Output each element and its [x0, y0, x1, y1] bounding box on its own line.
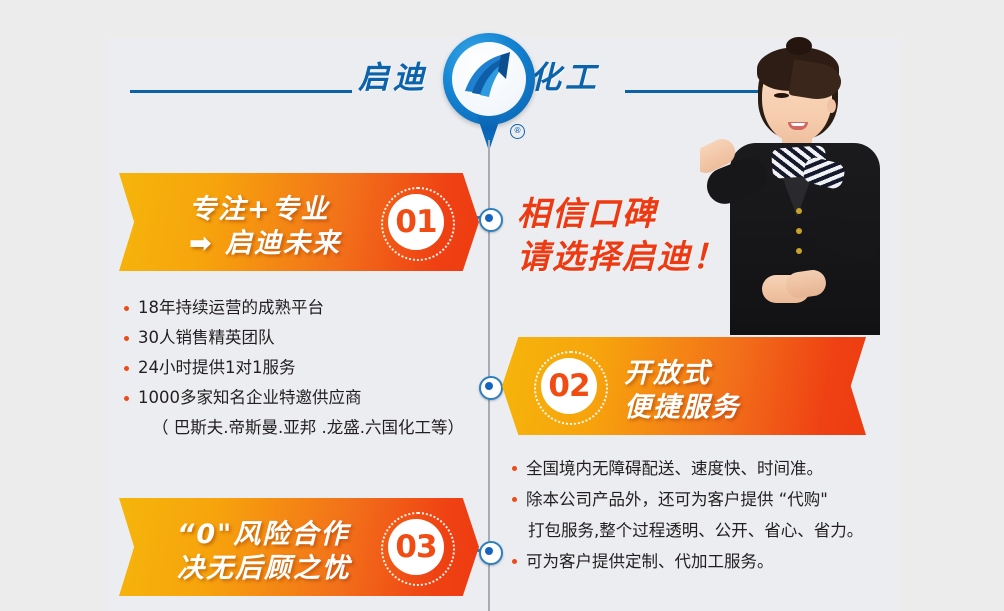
ribbon-03-number: 03	[381, 512, 451, 582]
bullet-list-left: 18年持续运营的成熟平台 30人销售精英团队 24小时提供1对1服务 1000多…	[122, 293, 464, 443]
hair-bun	[786, 37, 812, 55]
list-item-note: 打包服务,整个过程透明、公开、省心、省力。	[510, 515, 863, 546]
eye-left	[774, 93, 789, 98]
slogan-text: 相信口碑请选择启迪！	[517, 192, 727, 278]
jacket-button	[796, 228, 802, 234]
ribbon-02-badge: 02	[534, 351, 604, 421]
slogan-line2: 请选择启迪！	[517, 237, 727, 276]
ribbon-01-line1: 专注+专业	[189, 194, 330, 225]
timeline-node-2[interactable]	[479, 376, 503, 400]
list-item-note: （ 巴斯夫.帝斯曼.亚邦 .龙盛.六国化工等）	[122, 413, 464, 443]
presenter-photo	[700, 25, 890, 335]
header-rule-left	[130, 90, 352, 93]
brand-name-left: 启迪	[358, 63, 428, 94]
company-logo-pin: ®	[443, 33, 535, 155]
ear	[827, 99, 836, 113]
ribbon-03-badge: 03	[381, 512, 451, 582]
ribbon-03-line2: 决无后顾之忧	[177, 553, 351, 584]
jacket-button	[796, 208, 802, 214]
list-item: 可为客户提供定制、代加工服务。	[510, 546, 863, 577]
list-item: 30人销售精英团队	[122, 323, 464, 353]
ribbon-01-number: 01	[381, 187, 451, 257]
list-item: 除本公司产品外，还可为客户提供 “代购"	[510, 484, 863, 515]
ribbon-01-line2: ➡ 启迪未来	[189, 228, 341, 259]
list-item: 全国境内无障碍配送、速度快、时间准。	[510, 453, 863, 484]
jacket-button	[796, 248, 802, 254]
list-item: 24小时提供1对1服务	[122, 353, 464, 383]
ribbon-banner-02[interactable]: 开放式便捷服务 02	[502, 337, 866, 435]
ribbon-03-line1: “0"风险合作	[177, 519, 349, 550]
ribbon-01-text: 专注+专业➡ 启迪未来	[189, 193, 341, 261]
timeline-node-3[interactable]	[479, 541, 503, 565]
logo-swoosh-icon	[457, 47, 521, 111]
ribbon-02-text: 开放式便捷服务	[624, 357, 740, 425]
list-item: 18年持续运营的成熟平台	[122, 293, 464, 323]
bullet-list-right: 全国境内无障碍配送、速度快、时间准。 除本公司产品外，还可为客户提供 “代购" …	[510, 453, 863, 577]
list-item: 1000多家知名企业特邀供应商	[122, 383, 464, 413]
ribbon-02-line2: 便捷服务	[624, 392, 740, 423]
slogan-line1: 相信口碑	[517, 194, 657, 233]
ribbon-banner-03[interactable]: “0"风险合作决无后顾之忧 03	[119, 498, 479, 596]
timeline-node-1[interactable]	[479, 208, 503, 232]
ribbon-02-line1: 开放式	[624, 358, 711, 389]
ribbon-banner-01[interactable]: 专注+专业➡ 启迪未来 01	[119, 173, 479, 271]
registered-trademark-icon: ®	[510, 124, 525, 139]
poster-canvas: 启迪 化工 ®	[0, 0, 1004, 611]
ribbon-02-number: 02	[534, 351, 604, 421]
ribbon-01-badge: 01	[381, 187, 451, 257]
brand-name-right: 化工	[530, 63, 600, 94]
ribbon-03-text: “0"风险合作决无后顾之忧	[177, 518, 351, 586]
